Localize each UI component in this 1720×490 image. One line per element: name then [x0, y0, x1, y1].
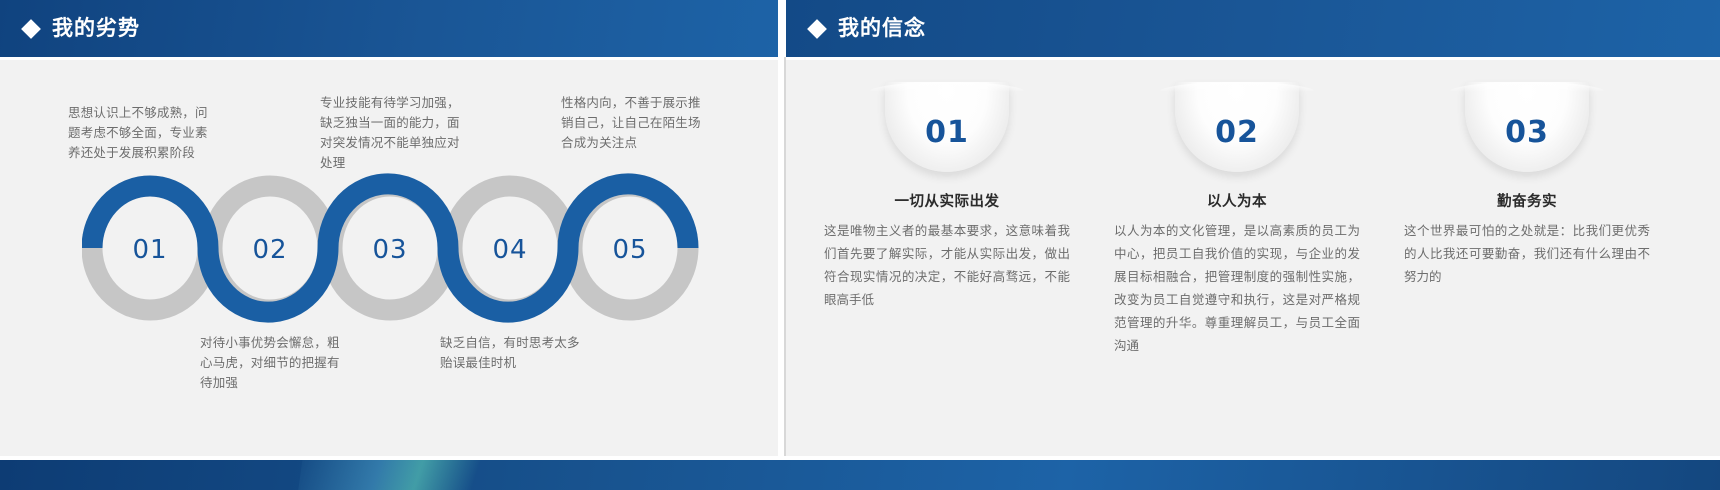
right-panel-header: 我的信念	[786, 0, 1720, 57]
left-panel-title: 我的劣势	[52, 18, 140, 39]
step-number-05: 05	[612, 235, 647, 265]
slide-root: 我的劣势 我的信念 思想认识上不够成熟，问题考虑不够全面，专业素养还处于发展积累…	[0, 0, 1720, 490]
weakness-note-2: 对待小事优势会懈怠，粗心马虎，对细节的把握有待加强	[200, 333, 352, 393]
weakness-note-5: 性格内向，不善于展示推销自己，让自己在陌生场合成为关注点	[561, 93, 713, 153]
left-header-underline	[0, 57, 778, 60]
bottom-bar-decoration	[0, 460, 1720, 490]
right-header-underline	[786, 57, 1720, 60]
belief-badge-2: 02	[1175, 82, 1299, 172]
belief-number-02: 02	[1215, 115, 1259, 172]
diamond-icon	[21, 19, 41, 39]
diamond-icon	[807, 19, 827, 39]
right-panel-body: 01 一切从实际出发 这是唯物主义者的最基本要求，这意味着我们首先要了解实际，才…	[786, 60, 1720, 460]
belief-number-01: 01	[925, 115, 969, 172]
weakness-note-3: 专业技能有待学习加强，缺乏独当一面的能力，面对突发情况不能单独应对处理	[320, 93, 472, 173]
belief-column-2: 02 以人为本 以人为本的文化管理，是以高素质的员工为中心，把员工自我价值的实现…	[1112, 60, 1362, 358]
weakness-note-1: 思想认识上不够成熟，问题考虑不够全面，专业素养还处于发展积累阶段	[68, 103, 220, 163]
belief-title-2: 以人为本	[1112, 190, 1362, 211]
left-panel-header: 我的劣势	[0, 0, 778, 57]
weakness-note-4: 缺乏自信，有时思考太多贻误最佳时机	[440, 333, 592, 373]
belief-column-3: 03 勤奋务实 这个世界最可怕的之处就是：比我们更优秀的人比我还可要勤奋，我们还…	[1402, 60, 1652, 289]
belief-title-1: 一切从实际出发	[822, 190, 1072, 211]
belief-number-03: 03	[1505, 115, 1549, 172]
step-number-01: 01	[132, 235, 167, 265]
belief-column-1: 01 一切从实际出发 这是唯物主义者的最基本要求，这意味着我们首先要了解实际，才…	[822, 60, 1072, 312]
left-panel-body: 思想认识上不够成熟，问题考虑不够全面，专业素养还处于发展积累阶段 专业技能有待学…	[0, 60, 778, 460]
belief-badge-1: 01	[885, 82, 1009, 172]
belief-body-2: 以人为本的文化管理，是以高素质的员工为中心，把员工自我价值的实现，与企业的发展目…	[1112, 220, 1362, 358]
panel-divider-line	[784, 57, 786, 460]
belief-badge-3: 03	[1465, 82, 1589, 172]
belief-body-3: 这个世界最可怕的之处就是：比我们更优秀的人比我还可要勤奋，我们还有什么理由不努力…	[1402, 220, 1652, 289]
belief-title-3: 勤奋务实	[1402, 190, 1652, 211]
step-number-04: 04	[492, 235, 527, 265]
belief-body-1: 这是唯物主义者的最基本要求，这意味着我们首先要了解实际，才能从实际出发，做出符合…	[822, 220, 1072, 312]
right-panel-title: 我的信念	[838, 18, 926, 39]
weakness-wave-chain: 01 02 03 04 05	[82, 173, 702, 323]
step-number-02: 02	[252, 235, 287, 265]
step-number-03: 03	[372, 235, 407, 265]
